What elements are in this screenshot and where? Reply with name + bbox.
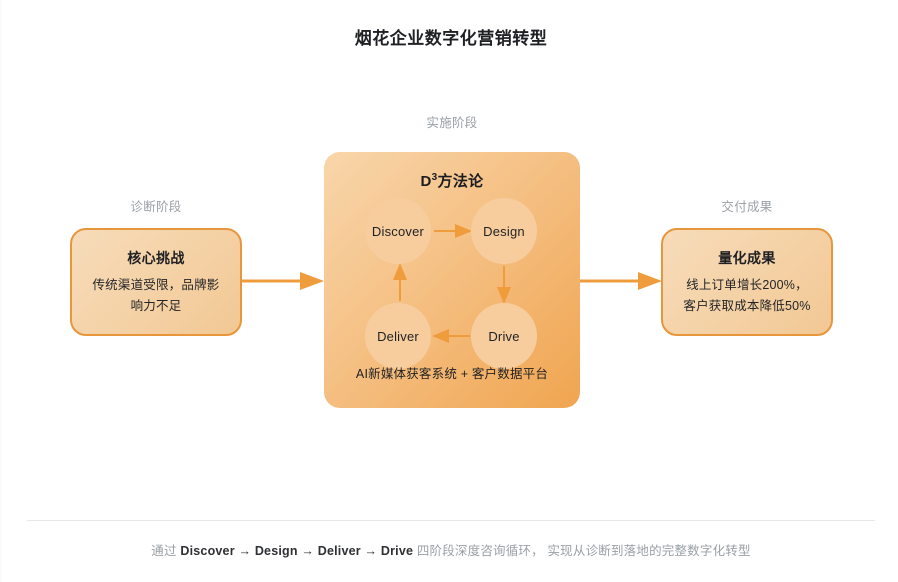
arrow-deliver-to-discover <box>393 263 407 301</box>
cycle-node-design-label: Design <box>483 224 525 239</box>
card-core-challenge-title: 核心挑战 <box>127 248 185 268</box>
footer-divider <box>27 520 875 521</box>
arrow-right-icon <box>242 268 328 294</box>
panel-caption: AI新媒体获客系统 + 客户数据平台 <box>324 363 580 382</box>
card-quantified-results-line1: 线上订单增长200%， <box>683 275 810 296</box>
cycle-node-deliver[interactable]: Deliver <box>365 303 431 369</box>
connector-arrow-left <box>242 268 328 294</box>
arrow-right-icon <box>580 268 666 294</box>
cycle-node-discover[interactable]: Discover <box>365 198 431 264</box>
panel-title: D3方法论 <box>324 170 580 191</box>
panel-title-main: 方法论 <box>438 173 484 190</box>
card-core-challenge-line2: 响力不足 <box>92 296 219 317</box>
cycle-node-design[interactable]: Design <box>471 198 537 264</box>
arrow-design-to-drive <box>497 266 511 304</box>
card-quantified-results-line2: 客户获取成本降低50% <box>683 296 810 317</box>
cycle-node-deliver-label: Deliver <box>377 329 419 344</box>
card-quantified-results-title: 量化成果 <box>718 248 776 268</box>
cycle-node-discover-label: Discover <box>372 224 424 239</box>
stage-label-diagnose: 诊断阶段 <box>70 196 242 215</box>
panel-title-letter: D <box>421 173 432 190</box>
stage-label-implement: 实施阶段 <box>324 112 580 131</box>
cycle-node-drive-label: Drive <box>488 329 519 344</box>
footer-suffix: 四阶段深度咨询循环， 实现从诊断到落地的完整数字化转型 <box>413 544 751 558</box>
connector-arrow-right <box>580 268 666 294</box>
card-quantified-results-body: 线上订单增长200%， 客户获取成本降低50% <box>683 275 810 316</box>
arrow-drive-to-deliver <box>432 329 470 343</box>
card-core-challenge-body: 传统渠道受限，品牌影 响力不足 <box>92 275 219 316</box>
cycle-node-drive[interactable]: Drive <box>471 303 537 369</box>
stage-label-deliver: 交付成果 <box>661 196 833 215</box>
card-core-challenge[interactable]: 核心挑战 传统渠道受限，品牌影 响力不足 <box>70 228 242 336</box>
card-quantified-results[interactable]: 量化成果 线上订单增长200%， 客户获取成本降低50% <box>661 228 833 336</box>
panel-d3-methodology[interactable]: D3方法论 Disco <box>324 152 580 408</box>
footer-prefix: 通过 <box>151 544 180 558</box>
footer-emphasis: Discover → Design → Deliver → Drive <box>180 544 413 558</box>
arrow-discover-to-design <box>434 224 472 238</box>
footer-note: 通过 Discover → Design → Deliver → Drive 四… <box>2 540 898 559</box>
card-core-challenge-line1: 传统渠道受限，品牌影 <box>92 275 219 296</box>
page-title: 烟花企业数字化营销转型 <box>2 24 898 49</box>
diagram-page: 烟花企业数字化营销转型 诊断阶段 实施阶段 交付成果 核心挑战 传统渠道受限，品… <box>0 0 898 582</box>
